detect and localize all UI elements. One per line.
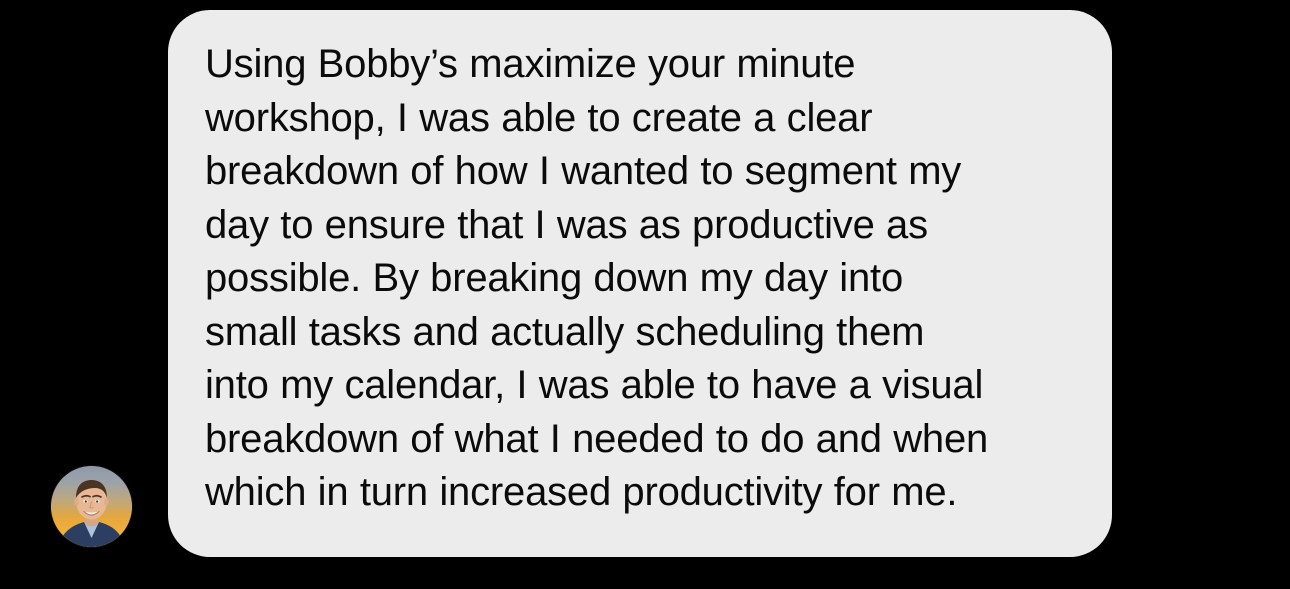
message-text: Using Bobby’s maximize your minute works… — [205, 38, 1072, 520]
message-row-incoming: Using Bobby’s maximize your minute works… — [0, 0, 1290, 589]
avatar[interactable] — [51, 466, 132, 547]
user-avatar-photo-icon — [51, 466, 132, 547]
message-bubble[interactable]: Using Bobby’s maximize your minute works… — [168, 10, 1112, 557]
conversation-view: Using Bobby’s maximize your minute works… — [0, 0, 1290, 589]
